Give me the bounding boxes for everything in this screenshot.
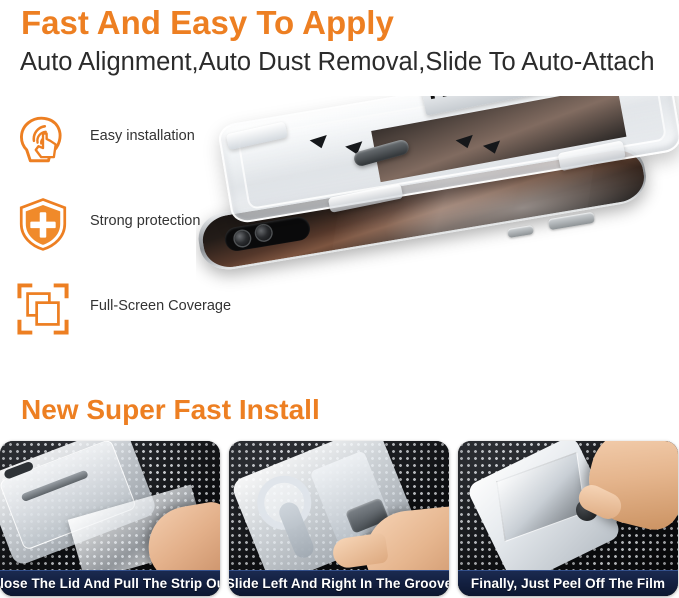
page-subtitle: Auto Alignment,Auto Dust Removal,Slide T… <box>20 47 655 79</box>
feature-item-label: Easy installation <box>90 128 195 144</box>
step-panel-1: Close The Lid And Pull The Strip Out <box>0 441 220 596</box>
page-title: Fast And Easy To Apply <box>21 2 394 43</box>
step-caption-text: Close The Lid And Pull The Strip Out <box>0 576 220 591</box>
phone-side-button <box>548 212 595 230</box>
phone-side-button <box>507 225 534 238</box>
shield-plus-icon <box>14 195 72 253</box>
full-screen-frame-icon <box>14 280 72 338</box>
steps-title: New Super Fast Install <box>21 394 320 426</box>
phone-with-alignment-tray-photo: NEFISH <box>196 96 679 368</box>
install-steps-section: New Super Fast Install Close The Lid And… <box>0 378 679 598</box>
step-caption-bar: Finally, Just Peel Off The Film <box>458 570 678 596</box>
step-caption-text: Finally, Just Peel Off The Film <box>471 576 665 591</box>
feature-item-label: Strong protection <box>90 213 200 229</box>
step-caption-bar: Close The Lid And Pull The Strip Out <box>0 570 220 596</box>
step-panel-3: Finally, Just Peel Off The Film <box>458 441 678 596</box>
step-panel-2: Slide Left And Right In The Groove <box>229 441 449 596</box>
step-panel-list: Close The Lid And Pull The Strip Out Sli… <box>0 441 679 596</box>
step-caption-bar: Slide Left And Right In The Groove <box>229 570 449 596</box>
step-caption-text: Slide Left And Right In The Groove <box>229 576 449 591</box>
tap-gesture-icon <box>14 110 72 168</box>
hero-section: Fast And Easy To Apply Auto Alignment,Au… <box>0 0 679 378</box>
